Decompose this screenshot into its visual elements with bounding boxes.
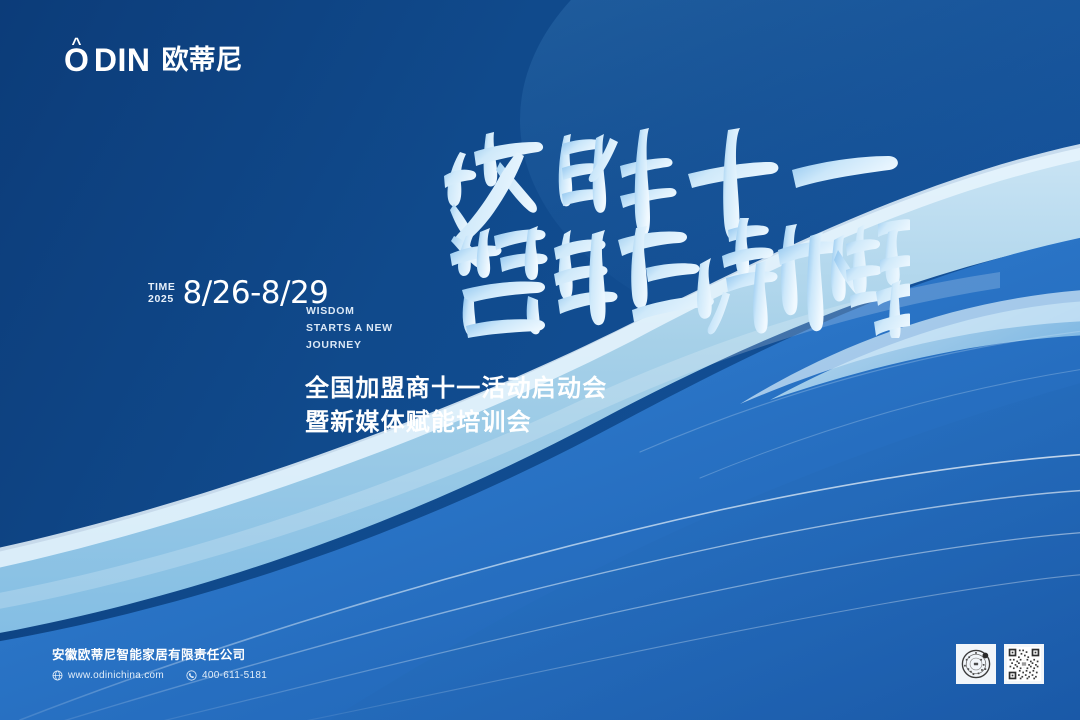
mini-program-code-graphic xyxy=(959,647,993,681)
event-subtitle: 全国加盟商十一活动启动会 暨新媒体赋能培训会 xyxy=(305,371,607,439)
qr-code-graphic xyxy=(1007,647,1041,681)
year-label: 2025 xyxy=(148,294,175,305)
headline-strokes xyxy=(440,108,910,338)
headline-calligraphy xyxy=(440,108,910,338)
footer: 安徽欧蒂尼智能家居有限责任公司 www.odinichina.com 400-6… xyxy=(52,644,267,681)
time-label: TIME xyxy=(148,282,175,293)
event-date: TIME 2025 8/26-8/29 xyxy=(148,278,328,309)
logo-chinese-text: 欧蒂尼 xyxy=(162,47,243,74)
phone-icon xyxy=(186,670,197,681)
tagline-line-1: WISDOM xyxy=(306,303,393,320)
subtitle-line-2: 暨新媒体赋能培训会 xyxy=(305,405,607,439)
qr-code-group xyxy=(956,644,1044,684)
date-label-stack: TIME 2025 xyxy=(148,282,175,309)
phone-contact[interactable]: 400-611-5181 xyxy=(186,670,267,681)
english-tagline: WISDOM STARTS A NEW JOURNEY xyxy=(306,303,393,354)
phone-text: 400-611-5181 xyxy=(202,670,267,681)
logo-latin-text: DIN xyxy=(94,44,151,76)
mini-program-code[interactable] xyxy=(956,644,996,684)
circumflex-accent: ^ xyxy=(71,35,81,52)
globe-icon xyxy=(52,670,63,681)
event-poster: ^ O DIN 欧蒂尼 xyxy=(0,0,1080,720)
website-contact[interactable]: www.odinichina.com xyxy=(52,670,164,681)
website-text: www.odinichina.com xyxy=(68,670,164,681)
contact-row: www.odinichina.com 400-611-5181 xyxy=(52,670,267,681)
qr-code[interactable] xyxy=(1004,644,1044,684)
tagline-line-3: JOURNEY xyxy=(306,337,393,354)
brand-logo[interactable]: ^ O DIN 欧蒂尼 xyxy=(64,44,243,76)
tagline-line-2: STARTS A NEW xyxy=(306,320,393,337)
odin-logo-icon: ^ O xyxy=(64,44,89,76)
subtitle-line-1: 全国加盟商十一活动启动会 xyxy=(305,371,607,405)
company-name: 安徽欧蒂尼智能家居有限责任公司 xyxy=(52,644,267,663)
